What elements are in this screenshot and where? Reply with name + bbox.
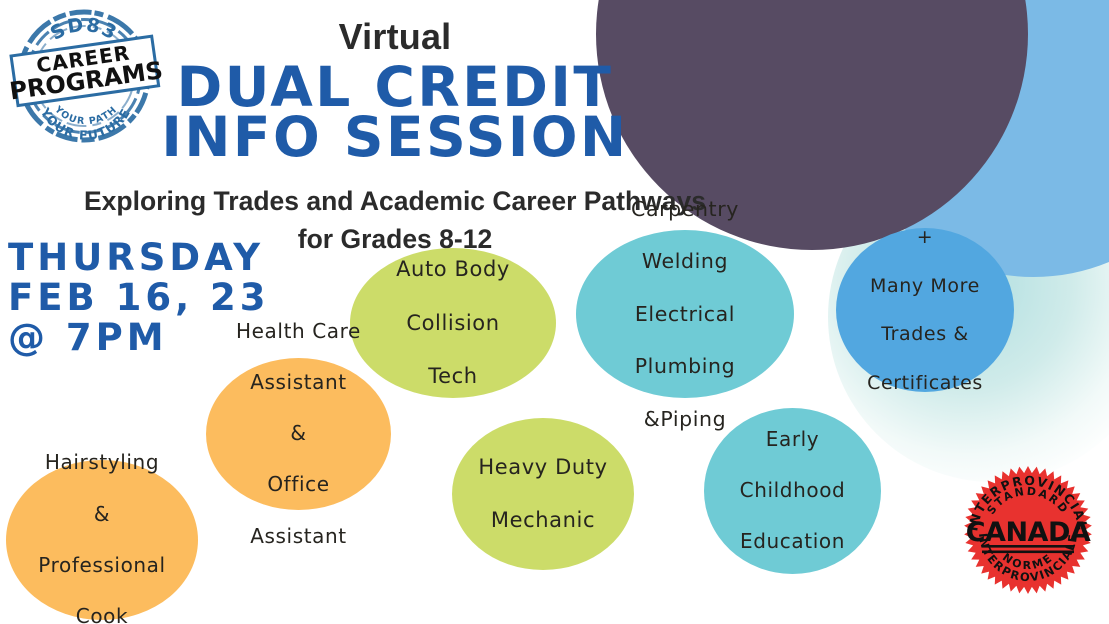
program-line: Early	[734, 427, 852, 453]
program-bubble-health-care: Health CareAssistant&OfficeAssistant	[206, 358, 391, 510]
program-line: +	[861, 225, 989, 249]
program-line: Electrical	[625, 301, 745, 327]
program-bubble-text: Auto BodyCollisionTech	[384, 256, 522, 390]
program-line: Tech	[390, 363, 516, 390]
program-line: Health Care	[230, 319, 367, 345]
program-line: Welding	[625, 248, 745, 274]
program-bubble-text: EarlyChildhoodEducation	[728, 427, 858, 555]
program-bubble-text: CarpentryWeldingElectricalPlumbing&Pipin…	[619, 196, 751, 432]
program-bubble-auto-body: Auto BodyCollisionTech	[350, 248, 556, 398]
program-bubble-text: Health CareAssistant&OfficeAssistant	[224, 319, 373, 549]
program-bubble-text: Heavy DutyMechanic	[466, 454, 619, 535]
program-line: Auto Body	[390, 256, 516, 283]
page-title-line2: INFO SESSION	[0, 112, 790, 163]
program-line: Heavy Duty	[472, 454, 613, 481]
program-line: Plumbing	[625, 353, 745, 379]
program-line: Carpentry	[625, 196, 745, 222]
program-line: Trades &	[861, 322, 989, 346]
red-seal-icon: INTERPROVINCIAL STANDARD CANADA NORME IN…	[958, 462, 1098, 598]
poster-canvas: SD83 CAREER PROGRAMS YOUR PATH YOUR FUTU…	[0, 0, 1109, 624]
program-line: &	[230, 421, 367, 447]
program-bubble-early-childhood: EarlyChildhoodEducation	[704, 408, 881, 574]
eyebrow-virtual: Virtual	[0, 18, 790, 56]
red-seal-badge: INTERPROVINCIAL STANDARD CANADA NORME IN…	[958, 462, 1098, 598]
program-bubble-text: Hairstyling&ProfessionalCook	[26, 450, 177, 624]
program-bubble-hairstyling: Hairstyling&ProfessionalCook	[6, 460, 198, 620]
program-line: Many More	[861, 274, 989, 298]
program-line: Office	[230, 472, 367, 498]
program-line: Cook	[32, 604, 171, 624]
program-line: Assistant	[230, 370, 367, 396]
program-line: &	[32, 502, 171, 528]
program-line: Assistant	[230, 524, 367, 550]
event-day: THURSDAY	[8, 238, 270, 278]
program-line: Hairstyling	[32, 450, 171, 476]
program-line: Certificates	[861, 371, 989, 395]
event-date: FEB 16, 23	[8, 278, 270, 318]
program-line: Professional	[32, 553, 171, 579]
program-line: Childhood	[734, 478, 852, 504]
program-bubble-carpentry: CarpentryWeldingElectricalPlumbing&Pipin…	[576, 230, 794, 398]
program-line: Mechanic	[472, 507, 613, 534]
program-bubble-text: +Many MoreTrades &Certificates	[855, 225, 995, 395]
program-line: Collision	[390, 310, 516, 337]
program-line: Education	[734, 529, 852, 555]
program-bubble-many-more: +Many MoreTrades &Certificates	[836, 228, 1014, 392]
program-bubble-heavy-duty: Heavy DutyMechanic	[452, 418, 634, 570]
